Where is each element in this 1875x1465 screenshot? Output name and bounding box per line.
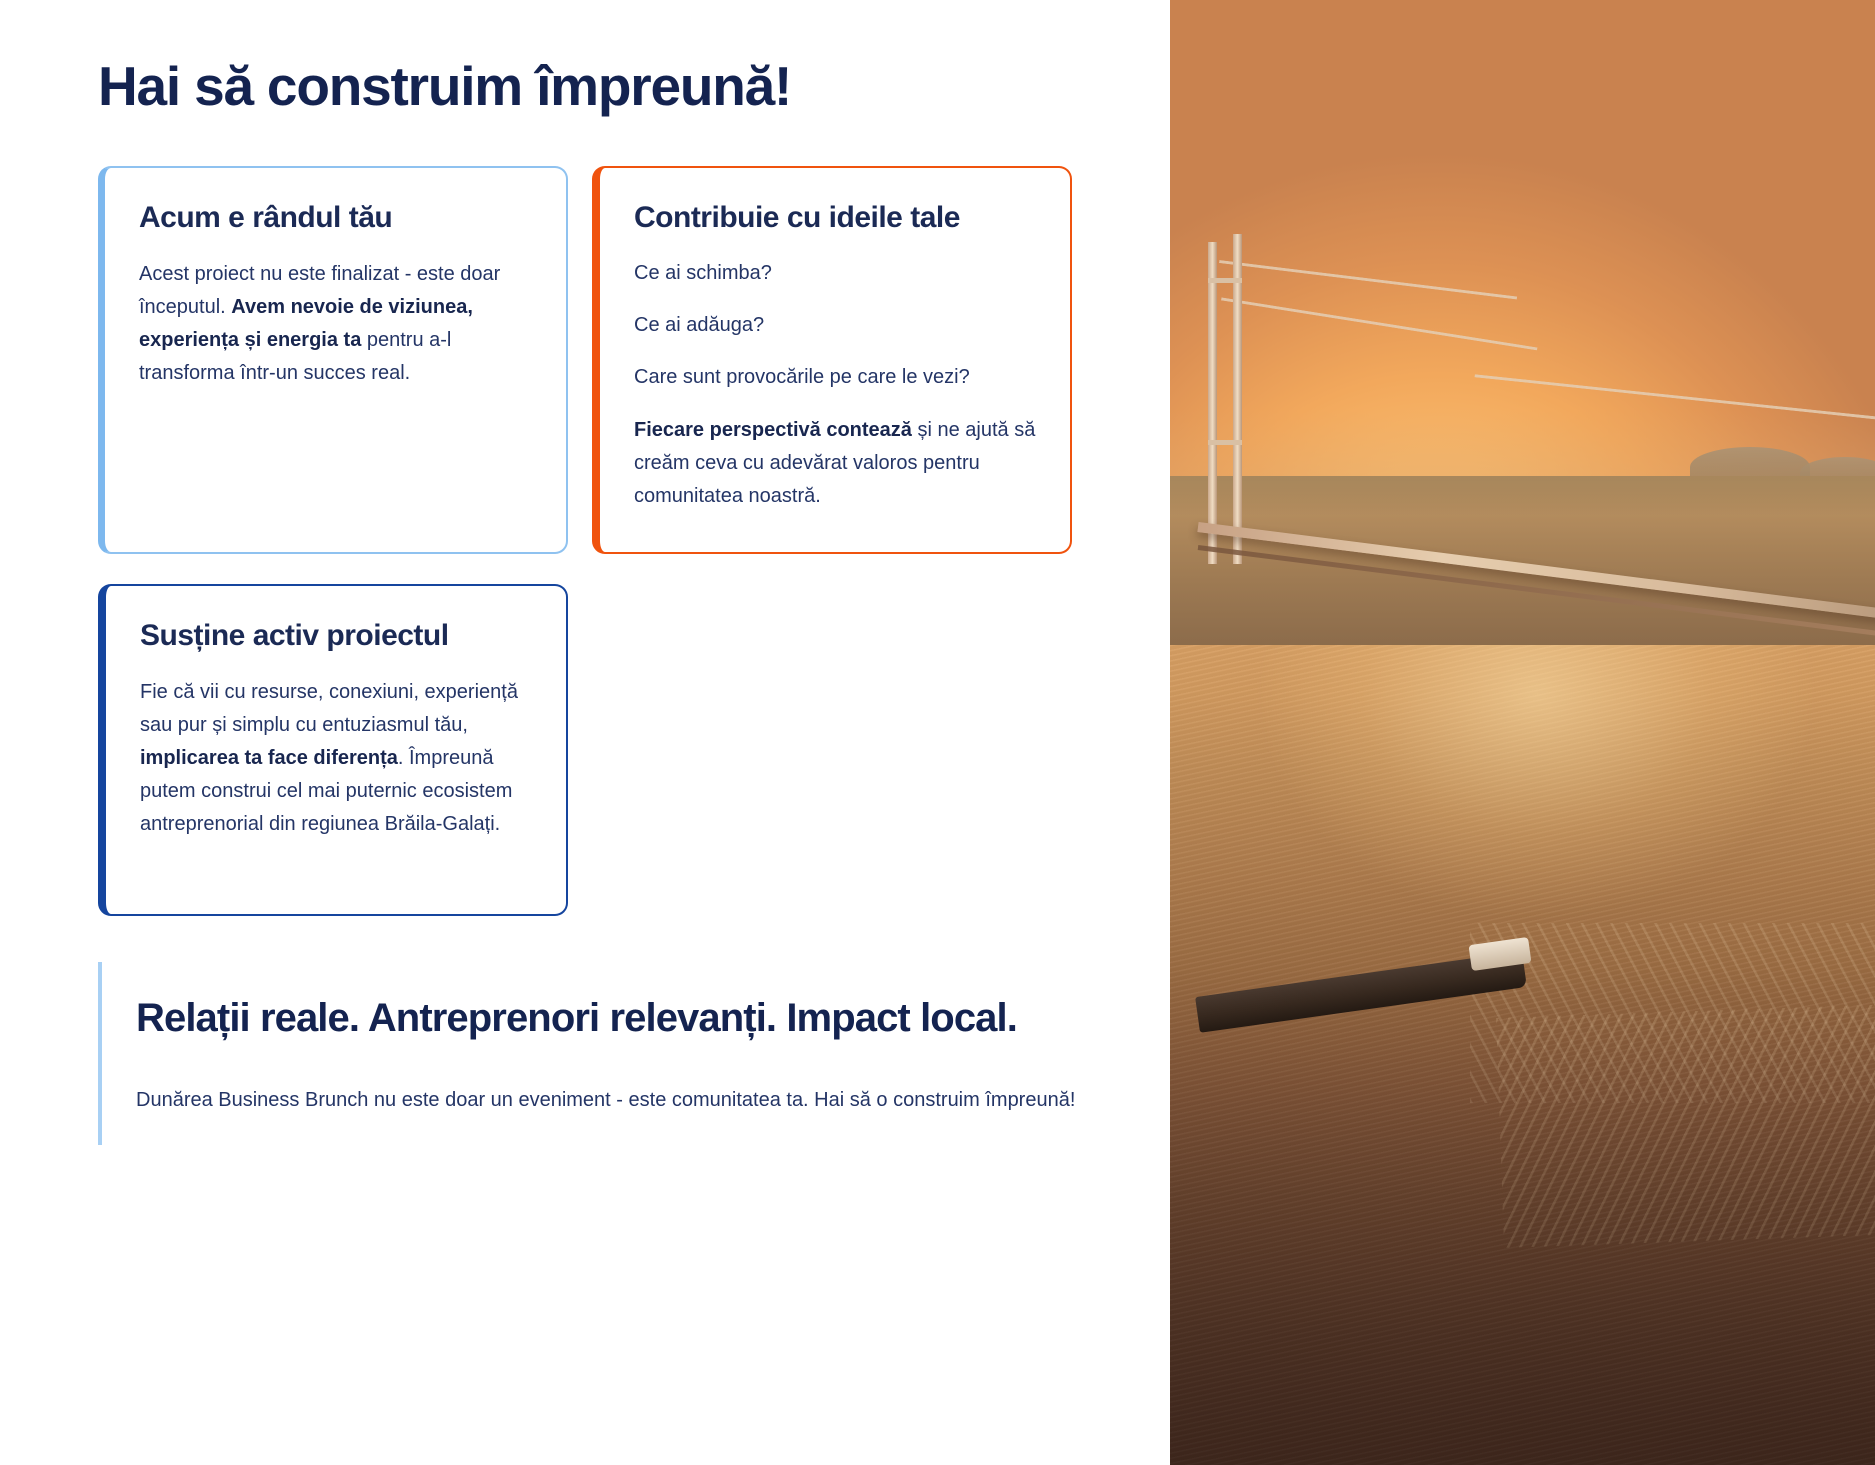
card-body-pre: Fie că vii cu resurse, conexiuni, experi… bbox=[140, 681, 518, 736]
card-title: Contribuie cu ideile tale bbox=[634, 200, 1036, 236]
card-body-bold: implicarea ta face diferența bbox=[140, 747, 398, 769]
closing-body: Dunărea Business Brunch nu este doar un … bbox=[136, 1084, 1096, 1118]
list-item: Care sunt provocările pe care le vezi? bbox=[634, 362, 1036, 392]
list-item: Ce ai schimba? bbox=[634, 258, 1036, 288]
card-sustine-activ-proiectul: Susține activ proiectul Fie că vii cu re… bbox=[98, 584, 568, 916]
questions-list: Ce ai schimba? Ce ai adăuga? Care sunt p… bbox=[634, 258, 1036, 392]
pylon-crossbeam bbox=[1208, 440, 1242, 445]
list-item: Ce ai adăuga? bbox=[634, 310, 1036, 340]
content-panel: Hai să construim împreună! Acum e rândul… bbox=[0, 0, 1170, 1465]
bridge-pylon bbox=[1208, 242, 1217, 564]
slide-root: Hai să construim împreună! Acum e rândul… bbox=[0, 0, 1875, 1465]
card-closing-bold: Fiecare perspectivă contează bbox=[634, 419, 912, 441]
card-closing-text: Fiecare perspectivă contează și ne ajută… bbox=[634, 414, 1036, 514]
cards-grid: Acum e rândul tău Acest proiect nu este … bbox=[98, 166, 1170, 916]
card-title: Susține activ proiectul bbox=[140, 618, 532, 654]
card-body: Fie că vii cu resurse, conexiuni, experi… bbox=[140, 676, 532, 842]
pylon-crossbeam bbox=[1208, 278, 1242, 283]
page-title: Hai să construim împreună! bbox=[98, 56, 1170, 118]
bridge-pylon bbox=[1233, 234, 1242, 564]
card-acum-e-randul-tau: Acum e rândul tău Acest proiect nu este … bbox=[98, 166, 568, 554]
sunset-danube-bridge-photo bbox=[1170, 0, 1875, 1465]
card-contribuie-cu-ideile-tale: Contribuie cu ideile tale Ce ai schimba?… bbox=[592, 166, 1072, 554]
card-body: Acest proiect nu este finalizat - este d… bbox=[139, 258, 532, 391]
closing-section: Relații reale. Antreprenori relevanți. I… bbox=[98, 962, 1108, 1146]
card-title: Acum e rândul tău bbox=[139, 200, 532, 236]
closing-title: Relații reale. Antreprenori relevanți. I… bbox=[136, 992, 1108, 1044]
vignette-overlay bbox=[1170, 967, 1875, 1465]
